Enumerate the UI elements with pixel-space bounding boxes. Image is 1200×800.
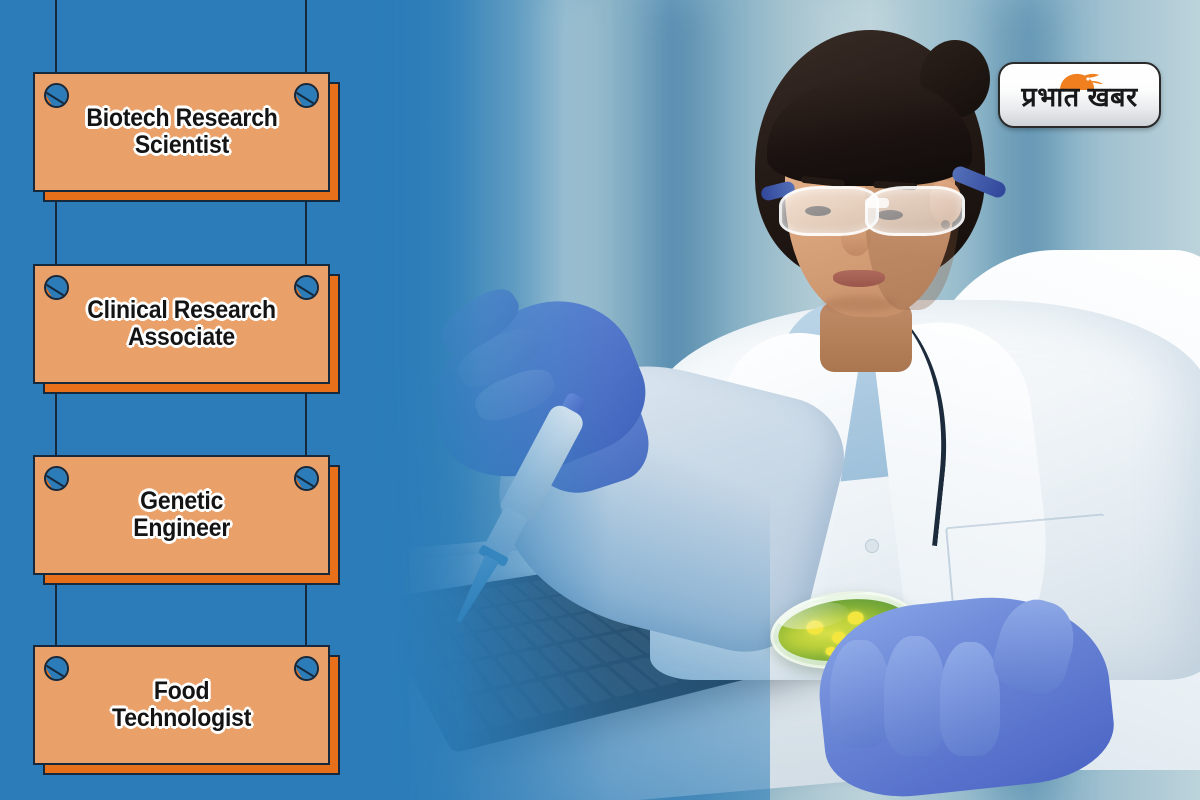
scientist-head [745,30,995,330]
grommet-hole-left [44,656,69,681]
grommet-hole-left [44,83,69,108]
card-label-line2: Technologist [112,704,251,732]
goggles-lens-right [865,186,965,236]
panel-edge-fade [352,0,482,800]
grommet-hole-right [294,656,319,681]
grommet-hole-right [294,466,319,491]
card-label: Genetic Engineer [102,488,262,542]
card-label-line1: Clinical Research [87,296,276,324]
grommet-hole-left [44,466,69,491]
chin-shadow [823,296,895,312]
grommet-divider [294,90,319,108]
grommet-hole-right [294,83,319,108]
lab-coat-button [866,540,878,552]
card-face[interactable]: Genetic Engineer [33,455,330,575]
grommet-divider [44,282,69,300]
job-card-genetic-engineer[interactable]: Genetic Engineer [33,455,330,575]
card-label-line1: Genetic [140,487,223,515]
job-card-clinical-research-associate[interactable]: Clinical Research Associate [33,264,330,384]
grommet-divider [44,473,69,491]
grommet-divider [294,663,319,681]
grommet-divider [44,663,69,681]
glove-finger [830,640,890,748]
infographic-canvas: Biotech Research Scientist Clinical Rese… [0,0,1200,800]
prabhat-khabar-logo[interactable]: प्रभात खबर [998,62,1161,128]
lips [833,270,885,287]
safety-goggles [765,180,980,242]
card-label: Clinical Research Associate [56,297,307,351]
card-face[interactable]: Food Technologist [33,645,330,765]
card-face[interactable]: Biotech Research Scientist [33,72,330,192]
logo-wordmark: प्रभात खबर [1000,84,1159,111]
card-label-line2: Associate [128,323,235,351]
card-label-line1: Biotech Research [86,104,277,132]
grommet-hole-right [294,275,319,300]
grommet-divider [294,473,319,491]
card-label: Food Technologist [81,678,283,732]
card-label-line1: Food [154,677,209,705]
job-card-biotech-research-scientist[interactable]: Biotech Research Scientist [33,72,330,192]
glove-finger [940,642,1000,756]
grommet-hole-left [44,275,69,300]
goggles-bridge [865,198,889,208]
card-label: Biotech Research Scientist [55,105,309,159]
grommet-divider [294,282,319,300]
card-face[interactable]: Clinical Research Associate [33,264,330,384]
goggles-lens-left [779,186,879,236]
job-card-food-technologist[interactable]: Food Technologist [33,645,330,765]
grommet-divider [44,90,69,108]
card-label-line2: Engineer [133,514,230,542]
glove-finger [884,636,946,756]
card-label-line2: Scientist [134,131,228,159]
